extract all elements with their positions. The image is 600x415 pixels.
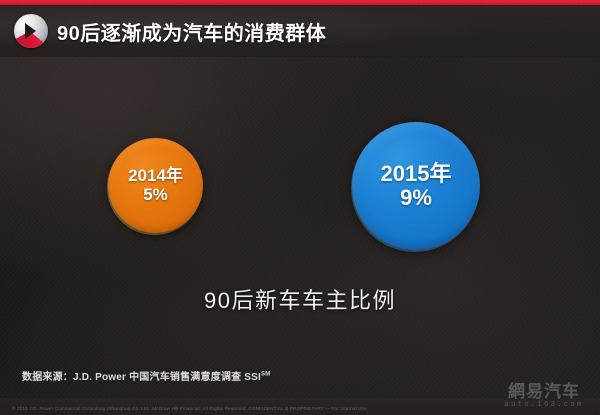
bubble-2015: 2015年 9%	[352, 122, 480, 250]
slide-canvas: 90后逐渐成为汽车的消费群体 2014年 5% 2015年 9% 90后新车车主…	[0, 0, 600, 415]
chart-caption: 90后新车车主比例	[0, 283, 600, 315]
bubble-2014-year-label: 2014年	[128, 167, 183, 185]
bubble-2015-value-label: 9%	[400, 186, 432, 210]
play-circle-logo-icon	[14, 14, 48, 48]
source-note-text: 数据来源：J.D. Power 中国汽车销售满意度调查 SSI	[22, 372, 261, 383]
bubble-2015-year-label: 2015年	[381, 162, 452, 186]
watermark-brand-label: 網易汽车	[494, 383, 594, 400]
bubble-2014: 2014年 5%	[108, 138, 203, 233]
source-note-superscript: SM	[261, 372, 270, 378]
netease-auto-watermark: 網易汽车 auto.163.com	[494, 383, 594, 409]
page-title: 90后逐渐成为汽车的消费群体	[57, 17, 326, 46]
watermark-url-label: auto.163.com	[494, 401, 594, 409]
slide-header: 90后逐渐成为汽车的消费群体	[0, 5, 600, 57]
bubble-2014-value-label: 5%	[143, 186, 168, 204]
logo-play-triangle-icon	[25, 23, 36, 39]
source-note: 数据来源：J.D. Power 中国汽车销售满意度调查 SSISM	[22, 368, 270, 383]
